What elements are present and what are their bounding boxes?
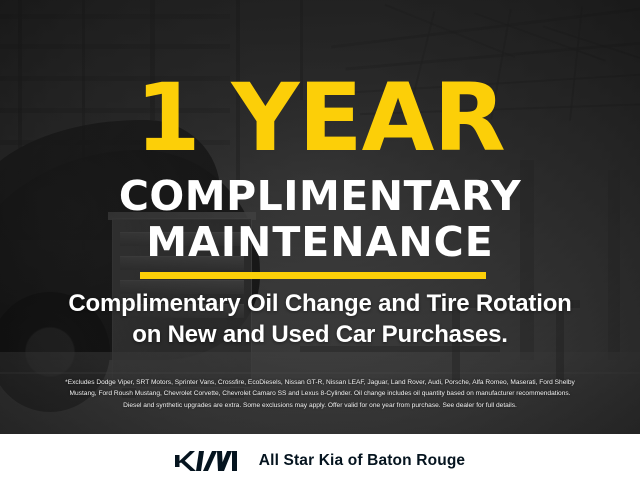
kia-logo — [175, 450, 239, 472]
disclaimer-text: *Excludes Dodge Viper, SRT Motors, Sprin… — [14, 377, 626, 411]
disclaimer-line-2: Mustang, Ford Roush Mustang, Chevrolet C… — [14, 388, 626, 399]
yellow-divider-rule — [140, 272, 486, 279]
offer-line-1: Complimentary Oil Change and Tire Rotati… — [0, 288, 640, 319]
offer-text: Complimentary Oil Change and Tire Rotati… — [0, 288, 640, 350]
disclaimer-line-1: *Excludes Dodge Viper, SRT Motors, Sprin… — [14, 377, 626, 388]
banner-content: 1 YEAR COMPLIMENTARY MAINTENANCE Complim… — [0, 0, 640, 488]
footer-bar: All Star Kia of Baton Rouge — [0, 434, 640, 488]
promo-banner: 1 YEAR COMPLIMENTARY MAINTENANCE Complim… — [0, 0, 640, 488]
disclaimer-line-3: Diesel and synthetic upgrades are extra.… — [14, 400, 626, 411]
headline-subtitle: COMPLIMENTARY MAINTENANCE — [0, 176, 640, 264]
offer-line-2: on New and Used Car Purchases. — [0, 319, 640, 350]
headline-maintenance: MAINTENANCE — [0, 221, 640, 264]
headline-year: 1 YEAR — [0, 74, 640, 164]
dealer-name: All Star Kia of Baton Rouge — [259, 452, 465, 470]
headline-complimentary: COMPLIMENTARY — [0, 176, 640, 217]
